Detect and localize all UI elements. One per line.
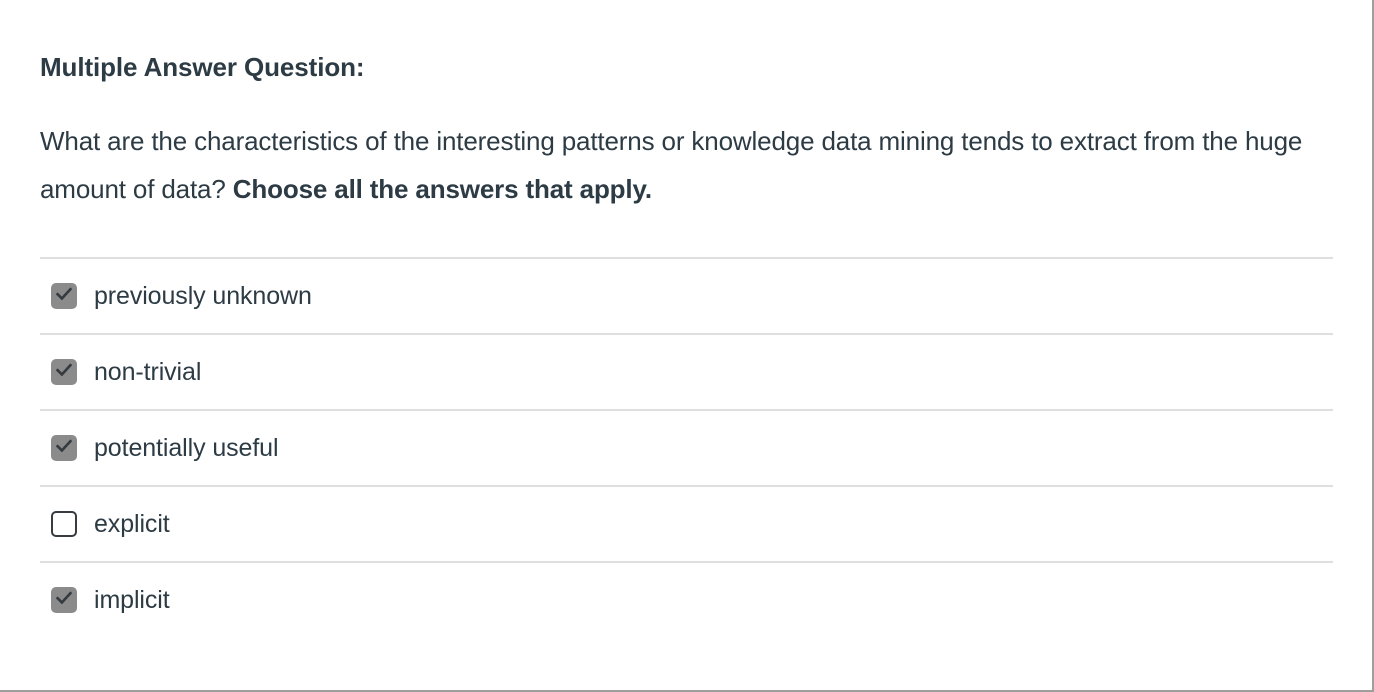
question-body: Multiple Answer Question: What are the c… bbox=[0, 0, 1372, 637]
answer-option-row[interactable]: previously unknown bbox=[40, 257, 1333, 333]
answer-option-label: explicit bbox=[94, 512, 170, 537]
answer-option-row[interactable]: non-trivial bbox=[40, 333, 1333, 409]
answer-options-list: previously unknownnon-trivialpotentially… bbox=[40, 257, 1333, 637]
answer-option-label: implicit bbox=[94, 588, 170, 613]
checkbox-checked-icon[interactable] bbox=[51, 587, 77, 613]
answer-option-label: potentially useful bbox=[94, 436, 278, 461]
answer-option-row[interactable]: potentially useful bbox=[40, 409, 1333, 485]
checkbox-checked-icon[interactable] bbox=[51, 359, 77, 385]
answer-option-row[interactable]: explicit bbox=[40, 485, 1333, 561]
question-prompt-emphasis: Choose all the answers that apply. bbox=[233, 174, 652, 204]
checkbox-unchecked-icon[interactable] bbox=[51, 511, 77, 537]
checkbox-checked-icon[interactable] bbox=[51, 283, 77, 309]
answer-option-row[interactable]: implicit bbox=[40, 561, 1333, 637]
quiz-question-frame: Multiple Answer Question: What are the c… bbox=[0, 0, 1374, 692]
answer-option-label: previously unknown bbox=[94, 284, 312, 309]
checkbox-checked-icon[interactable] bbox=[51, 435, 77, 461]
answer-option-label: non-trivial bbox=[94, 360, 201, 385]
question-prompt: What are the characteristics of the inte… bbox=[40, 117, 1315, 213]
question-prompt-main: What are the characteristics of the inte… bbox=[40, 126, 1302, 204]
question-heading: Multiple Answer Question: bbox=[40, 52, 1331, 83]
